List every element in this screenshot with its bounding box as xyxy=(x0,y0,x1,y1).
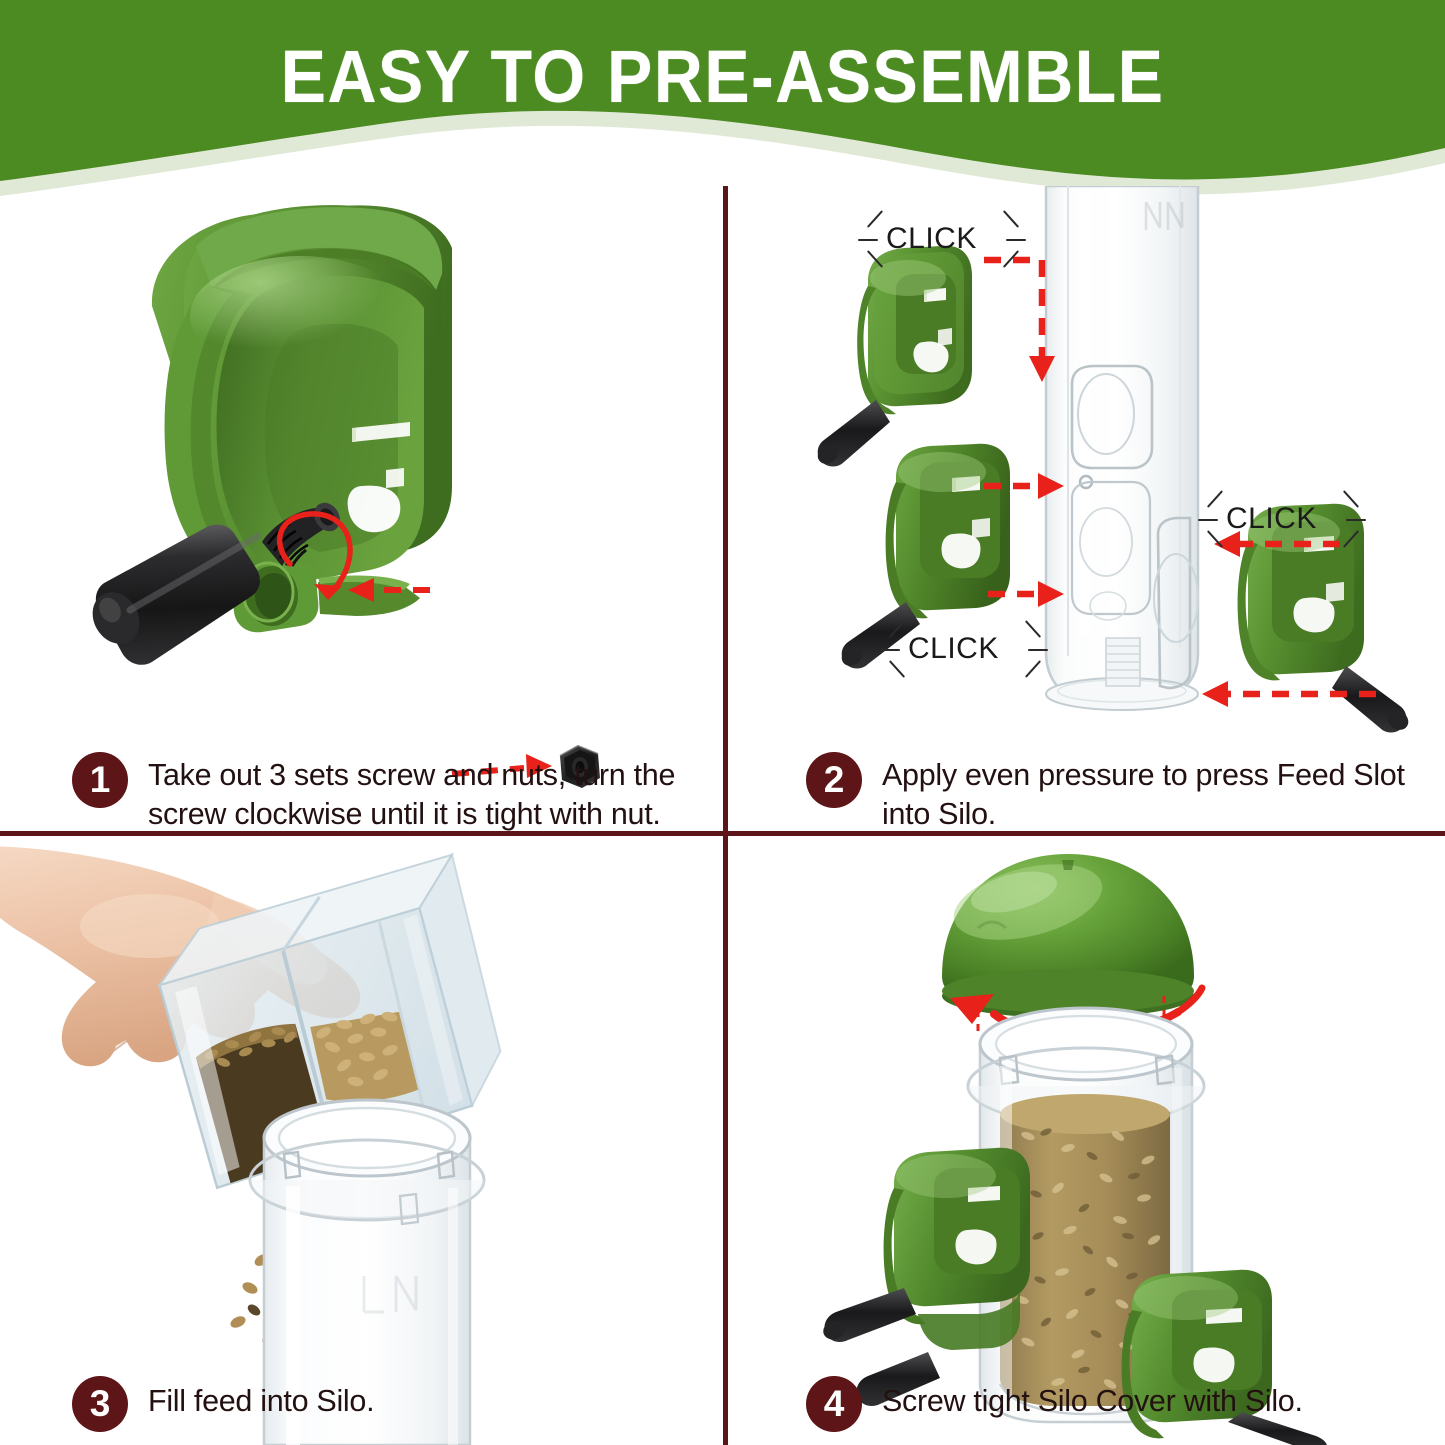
step-text-4: Screw tight Silo Cover with Silo. xyxy=(882,1376,1303,1421)
panel-4 xyxy=(728,836,1445,1445)
click-label-1: CLICK xyxy=(856,208,1036,274)
step-caption-1: 1 Take out 3 sets screw and nuts, turn t… xyxy=(72,752,708,834)
panel-3-artwork xyxy=(0,836,723,1445)
click-text: CLICK xyxy=(908,632,999,666)
panel-1 xyxy=(0,186,723,831)
panel-1-artwork xyxy=(0,186,723,831)
step-caption-4: 4 Screw tight Silo Cover with Silo. xyxy=(806,1376,1303,1432)
click-text: CLICK xyxy=(1226,502,1317,536)
step-badge-4: 4 xyxy=(806,1376,862,1432)
infographic-root: EASY TO PRE-ASSEMBLE xyxy=(0,0,1445,1445)
step-text-3: Fill feed into Silo. xyxy=(148,1376,374,1421)
silo-tube-clear xyxy=(1046,186,1198,710)
header-banner: EASY TO PRE-ASSEMBLE xyxy=(0,0,1445,205)
step-badge-1: 1 xyxy=(72,752,128,808)
step-caption-3: 3 Fill feed into Silo. xyxy=(72,1376,374,1432)
step-badge-3: 3 xyxy=(72,1376,128,1432)
dashed-arrow-top xyxy=(984,260,1042,358)
panel-3 xyxy=(0,836,723,1445)
step-text-2: Apply even pressure to press Feed Slot i… xyxy=(882,752,1442,834)
click-text: CLICK xyxy=(886,222,977,256)
page-title: EASY TO PRE-ASSEMBLE xyxy=(58,34,1387,119)
panel-4-artwork xyxy=(728,836,1445,1445)
step-text-1: Take out 3 sets screw and nuts, turn the… xyxy=(148,752,708,834)
panel-2: CLICK CLICK CLICK xyxy=(728,186,1445,831)
click-label-3: CLICK xyxy=(878,618,1058,684)
step-caption-2: 2 Apply even pressure to press Feed Slot… xyxy=(806,752,1442,834)
silo-cover-green-dome xyxy=(942,851,1194,1018)
click-label-2: CLICK xyxy=(1196,488,1376,554)
step-badge-2: 2 xyxy=(806,752,862,808)
feed-slot-green-top xyxy=(814,246,972,468)
